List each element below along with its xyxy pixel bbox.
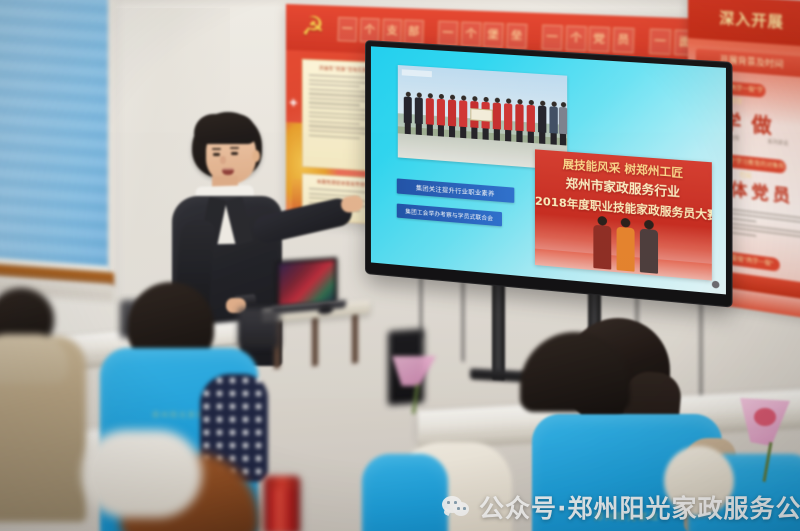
tv-brand-logo	[712, 281, 720, 289]
audience-blue-vest	[362, 454, 448, 531]
audience-head	[520, 332, 630, 412]
photo-scene: ☭ 一 个 支 部 一 个 堡 垒 一 个 党 员 一 面 旗 帜 ✦ 开展	[0, 0, 800, 531]
tv-screen: 展技能风采 树郑州工匠 郑州市家政服务行业 2018年度职业技能家政服务员大赛 …	[371, 46, 726, 294]
thermos-cap	[264, 476, 300, 489]
slogan-char: 一	[337, 17, 357, 42]
slogan-char: 个	[359, 18, 379, 43]
slogan-char: 一	[438, 21, 458, 46]
flower-bouquet-left	[392, 356, 440, 418]
presenter-eye-left	[213, 153, 220, 156]
dove-icon: ✦	[288, 96, 299, 112]
window-blind	[0, 0, 108, 274]
slide-photo-award: 展技能风采 树郑州工匠 郑州市家政服务行业 2018年度职业技能家政服务员大赛	[535, 149, 712, 280]
ceiling-edge	[0, 0, 800, 8]
thermos-flask[interactable]	[264, 476, 300, 531]
audience-fur-hood	[0, 334, 68, 384]
flower-bouquet-right	[738, 398, 796, 484]
tv-cable-left	[420, 268, 422, 338]
slide-bullet-1: 集团关注提升行业职业素养	[397, 178, 515, 203]
slogan-char: 个	[460, 22, 481, 48]
slide-bullet-2: 集团工会举办考察与学员式联合会	[397, 204, 502, 227]
presenter-hand-pointing	[340, 194, 364, 213]
audience-white-sweater	[82, 430, 202, 518]
slide-certificate	[470, 108, 492, 122]
flower-bloom	[754, 408, 776, 426]
slogan-char: 员	[613, 27, 635, 53]
slogan-char: 个	[565, 25, 586, 51]
slogan-char: 部	[404, 19, 424, 44]
slogan-char: 一	[541, 25, 562, 51]
slogan-char: 一	[649, 29, 671, 55]
presenter-mouth	[222, 168, 234, 175]
slogan-char: 支	[382, 19, 402, 44]
poster-right-heading: 深入开展	[688, 0, 800, 47]
slogan-char: 党	[589, 26, 611, 52]
audience-member-behind-tv	[520, 332, 630, 412]
wechat-icon	[442, 494, 472, 520]
slogan-char: 垒	[506, 23, 527, 49]
hammer-sickle-icon: ☭	[296, 11, 330, 42]
presenter-eye-right	[231, 152, 238, 155]
presenter-ear	[252, 150, 260, 162]
slogan-char: 堡	[483, 22, 504, 48]
watermark: 公众号·郑州阳光家政服务公司	[442, 489, 800, 525]
watermark-text: 公众号·郑州阳光家政服务公司	[479, 489, 800, 525]
presentation-tv[interactable]: 展技能风采 树郑州工匠 郑州市家政服务行业 2018年度职业技能家政服务员大赛 …	[366, 41, 731, 306]
